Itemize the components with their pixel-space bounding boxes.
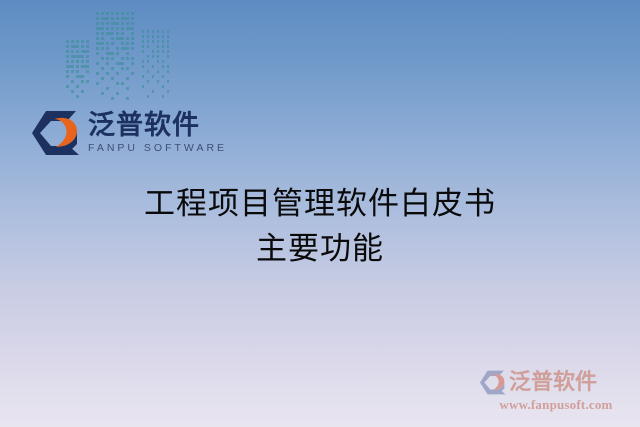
pixel-skyline-graphic <box>64 8 174 106</box>
fanpu-watermark-url: www.fanpusoft.com <box>480 397 632 413</box>
fanpu-logo: 泛普软件 FANPU SOFTWARE <box>32 110 227 156</box>
page-title: 工程项目管理软件白皮书 主要功能 <box>0 182 640 272</box>
fanpu-watermark-row: 泛普软件 <box>480 370 632 395</box>
page-title-line-2: 主要功能 <box>0 227 640 272</box>
fanpu-logo-mark <box>32 110 80 156</box>
fanpu-logo-name-cn: 泛普软件 <box>88 112 227 139</box>
fanpu-watermark: 泛普软件 www.fanpusoft.com <box>480 370 632 413</box>
fanpu-watermark-name: 泛普软件 <box>509 372 597 394</box>
page-title-line-1: 工程项目管理软件白皮书 <box>0 182 640 227</box>
fanpu-logo-wordmark: 泛普软件 FANPU SOFTWARE <box>88 112 227 154</box>
fanpu-logo-name-en: FANPU SOFTWARE <box>88 143 227 154</box>
fanpu-watermark-mark <box>480 370 506 395</box>
slide-canvas: 泛普软件 FANPU SOFTWARE 工程项目管理软件白皮书 主要功能 泛普软… <box>0 0 640 427</box>
